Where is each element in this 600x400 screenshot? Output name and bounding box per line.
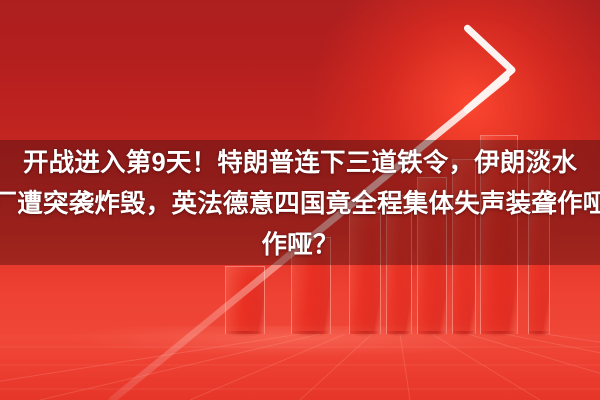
floor-plane xyxy=(0,334,600,400)
headline-line-2: 厂遭突袭炸毁，英法德意四国竟全程集体失声装聋作哑 xyxy=(0,184,600,225)
headline-line-3: 作哑？ xyxy=(0,225,600,266)
headline-text: 开战进入第9天！特朗普连下三道铁令，伊朗淡水 厂遭突袭炸毁，英法德意四国竟全程集… xyxy=(0,143,600,266)
headline-line-1: 开战进入第9天！特朗普连下三道铁令，伊朗淡水 xyxy=(0,143,600,184)
news-thumbnail-image: 开战进入第9天！特朗普连下三道铁令，伊朗淡水 厂遭突袭炸毁，英法德意四国竟全程集… xyxy=(0,0,600,400)
